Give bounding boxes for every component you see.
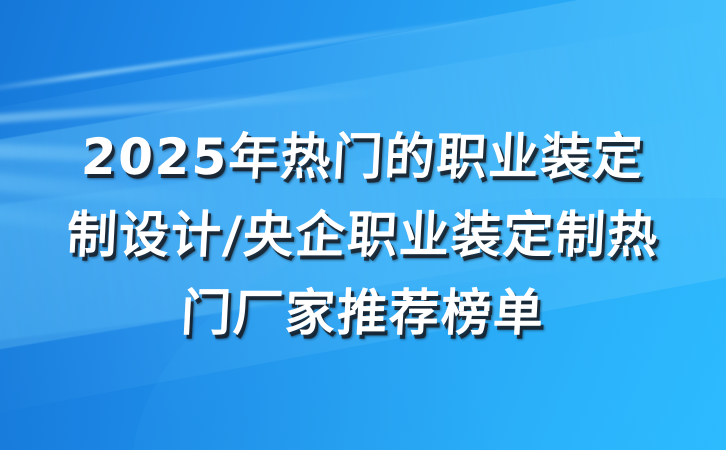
banner-title-line-3: 门厂家推荐榜单 <box>0 274 726 352</box>
banner-title-line-2: 制设计/央企职业装定制热 <box>0 196 726 274</box>
banner-title-line-1: 2025年热门的职业装定 <box>0 118 726 196</box>
banner-title: 2025年热门的职业装定 制设计/央企职业装定制热 门厂家推荐榜单 <box>0 118 726 352</box>
wave-streak-a-icon <box>0 14 503 95</box>
promotional-banner: 2025年热门的职业装定 制设计/央企职业装定制热 门厂家推荐榜单 <box>0 0 726 450</box>
